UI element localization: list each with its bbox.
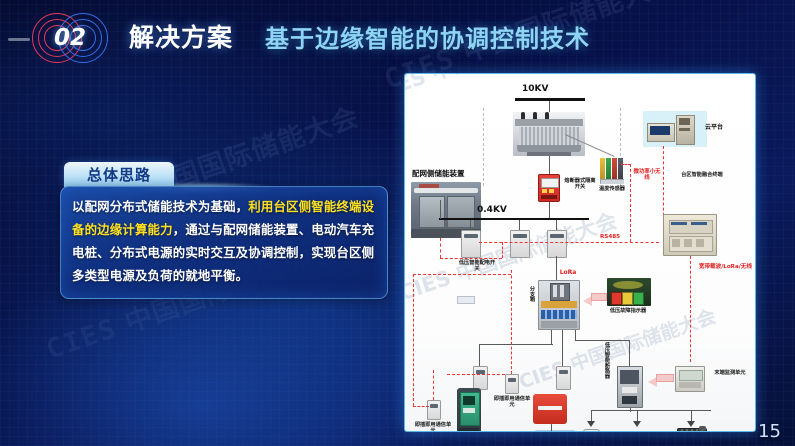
rs485-dash (609, 242, 659, 243)
temp-sensor-label: 温度传感器 (597, 186, 627, 192)
micro-wireless-dash-top (621, 164, 631, 165)
lv-switch-2 (510, 230, 530, 258)
fault-indicator-label: 低压故障指示器 (603, 308, 653, 314)
pump-image (623, 431, 653, 432)
callout-text: 以配网分布式储能技术为基础，利用台区侧智能终端设备的边缘计算能力，通过与配网储能… (72, 195, 376, 287)
branch-out-2 (562, 330, 563, 366)
left-vertical-dash (413, 274, 414, 406)
fault-indicator-arrow-stem (591, 293, 607, 301)
switch-chain-dash (479, 242, 609, 243)
pv-panel-image (535, 430, 575, 432)
plug-play-unit-1 (427, 400, 441, 420)
page-title: 解决方案 (129, 18, 233, 54)
pv-inverter-panel-wire (551, 424, 552, 432)
terminal-dash-down (690, 256, 691, 362)
branch-symbol (457, 296, 475, 304)
lv-switch-3-wire (556, 220, 557, 230)
fault-indicator-image (607, 278, 651, 306)
plug-play-dash-2 (511, 298, 512, 374)
panel-watermark-1: CIES 中国国际储能大会 (404, 73, 595, 106)
fuse-switch-image (538, 174, 560, 202)
diagram-panel: CIES 中国国际储能大会 CIES 中国国际储能大会 CIES 中国国际储能大… (404, 73, 756, 432)
branch-meter-2 (556, 366, 571, 390)
branch-out-1v (479, 344, 480, 366)
slide-root: CIES 中国国际储能大会 CIES 中国国际储能大会 CIES 中国国际储能大… (0, 0, 795, 446)
lv-switch-2-wire (519, 220, 520, 230)
plug-play-unit-2 (505, 374, 519, 394)
plug-play-dash-2h (447, 374, 505, 375)
aircon-image (583, 429, 600, 432)
panel-wm-cn-1: 中国国际储能大会 (428, 73, 595, 85)
watermark-cies-text-2: CIES (42, 313, 121, 366)
cloud-platform-label: 云平台 (705, 124, 723, 132)
plug-play-dash-1 (433, 370, 434, 400)
lv-switch-1-wire (470, 220, 471, 230)
panel-wm-cies-1: CIES (404, 73, 429, 104)
plug-play-label-1: 即插即用通信单元 (413, 422, 453, 432)
hv-zone-dash-left (483, 108, 484, 186)
end-monitor-arrow-stem (656, 374, 674, 382)
smart-terminal-image (663, 214, 717, 256)
storage-dash-down (440, 238, 441, 258)
ev-charger-image (457, 388, 481, 432)
micro-wireless-label: 微功率小无线 (633, 169, 661, 182)
branch-box-label: 分支箱 (525, 286, 535, 302)
branch-out-3h (575, 340, 629, 341)
lv-breaker-image (617, 366, 643, 408)
pv-inverter-image (533, 394, 567, 424)
lv-voltage-label: 0.4KV (477, 205, 507, 215)
branch-out-1 (551, 330, 552, 344)
callout-box: 以配网分布式储能技术为基础，利用台区侧智能终端设备的边缘计算能力，通过与配网储能… (60, 186, 388, 299)
branch-out-1h (479, 344, 553, 345)
branch-box-image (538, 280, 580, 330)
rs485-label: RS485 (595, 234, 625, 240)
storage-bus-wire (440, 200, 441, 219)
load-bus (591, 410, 711, 411)
micro-wireless-dash (630, 164, 631, 242)
heater-image (675, 426, 707, 432)
branch-meter-1 (473, 366, 488, 390)
end-monitor-label: 末端监测单元 (709, 370, 751, 376)
lv-switch-label: 低压智能配电开关 (457, 260, 497, 273)
load-arrow-2 (633, 421, 641, 427)
section-number-badge: 02 (28, 10, 124, 66)
storage-dash-right (440, 258, 502, 259)
hv-voltage-label: 10KV (522, 84, 548, 94)
storage-device-label: 配网侧储能装置 (412, 170, 465, 178)
broadband-label: 宽带载波/LoRa/无线 (648, 264, 752, 270)
fuse-out-wire (549, 202, 550, 218)
lv-switch-3 (547, 230, 567, 258)
fuse-switch-label: 熔断器式隔离开关 (562, 178, 598, 191)
callout-tab-label: 总体思路 (87, 164, 151, 185)
top-chain-dash (413, 274, 511, 275)
page-number: 15 (758, 421, 781, 442)
lv-switch-1 (461, 230, 481, 258)
lv-bus (439, 218, 589, 220)
mid-vertical-dash (511, 270, 512, 300)
load-arrow-1 (587, 421, 595, 427)
left-vertical-dash-h (413, 406, 429, 407)
temp-sensor-image (600, 158, 624, 184)
end-monitor-image (675, 366, 705, 392)
switch2-dash-up (502, 242, 503, 258)
plug-play-label-2: 即插即用通信单元 (493, 396, 531, 409)
branch-out-3 (575, 330, 576, 340)
load-bus-feed (630, 408, 631, 412)
panel-wm-cies-2: CIES (404, 266, 454, 306)
callout-tab: 总体思路 (64, 162, 174, 187)
section-number-text: 02 (22, 10, 118, 66)
transformer-out-wire (549, 156, 550, 174)
transformer-image (513, 112, 585, 156)
smart-terminal-label: 台区智能融合终端 (679, 172, 725, 178)
callout-text-part1: 以配网分布式储能技术为基础， (72, 199, 248, 214)
page-subtitle: 基于边缘智能的协调控制技术 (265, 19, 590, 54)
cloud-platform-image (643, 111, 707, 147)
lv-breaker-label: 低压智能断路器 (601, 342, 611, 378)
lora-label: LoRa (553, 270, 583, 276)
